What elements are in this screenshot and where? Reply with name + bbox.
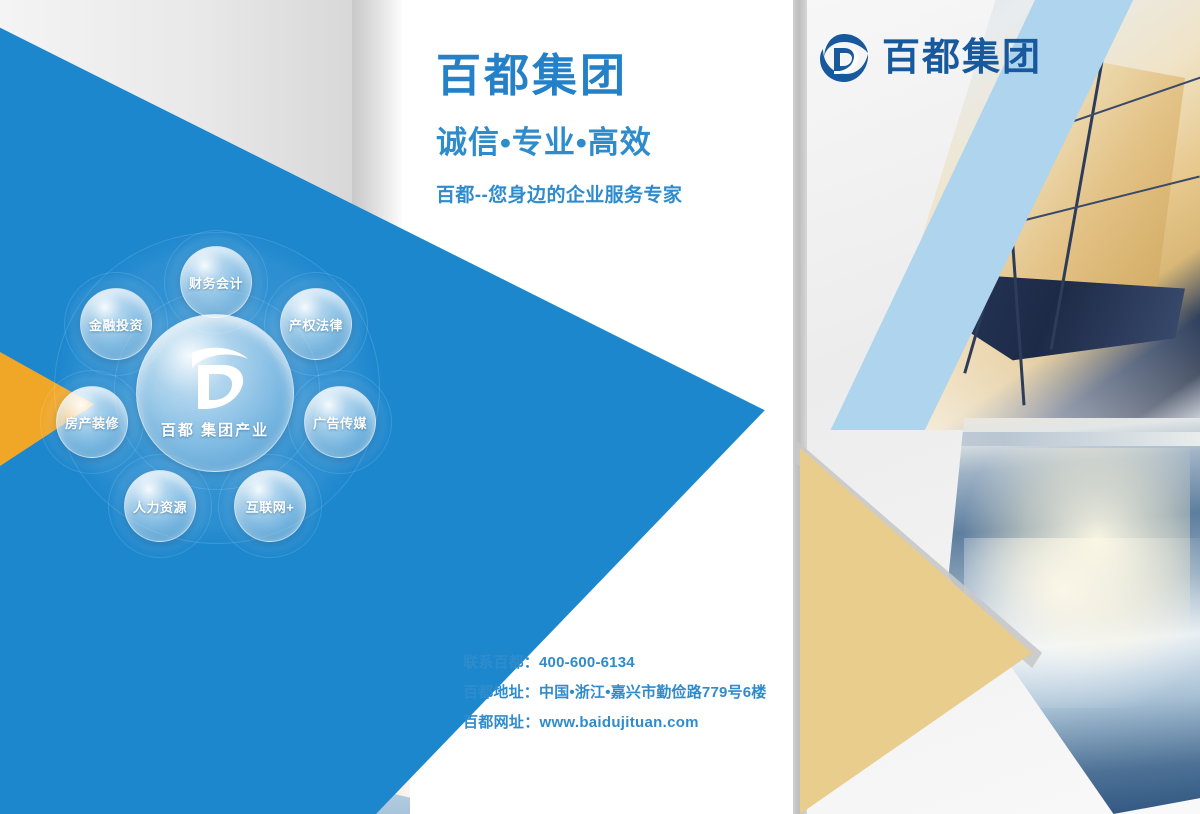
contact-block: 联系百都：400-600-6134 百都地址：中国•浙江•嘉兴市勤俭路779号6… — [463, 648, 766, 738]
industry-bubble-diagram: 财务会计 产权法律 广告传媒 互联网+ 人力资源 房产装修 金融投资 — [36, 222, 396, 552]
bubble-label: 广告传媒 — [313, 413, 367, 432]
bubble-center-label: 百都 集团产业 — [161, 419, 269, 440]
page-title: 百都集团 — [436, 52, 682, 101]
bubble-label: 人力资源 — [133, 497, 187, 516]
bubble-node-human-resources[interactable]: 人力资源 — [124, 470, 196, 542]
baidu-group-d-logo-icon — [818, 32, 870, 84]
hero-subline: 诚信•专业•高效 — [436, 117, 682, 162]
contact-address: 百都地址：中国•浙江•嘉兴市勤俭路779号6楼 — [463, 678, 766, 708]
bubble-label: 房产装修 — [65, 413, 119, 432]
contact-website[interactable]: 百都网址：www.baidujituan.com — [463, 708, 766, 738]
bubble-label: 互联网+ — [246, 497, 295, 516]
brochure-page: 财务会计 产权法律 广告传媒 互联网+ 人力资源 房产装修 金融投资 — [0, 0, 1200, 814]
bubble-node-center[interactable]: 百都 集团产业 — [136, 314, 294, 472]
brand-name: 百都集团 — [882, 39, 1042, 77]
bubble-node-internet-plus[interactable]: 互联网+ — [234, 470, 306, 542]
bubble-node-finance-accounting[interactable]: 财务会计 — [180, 246, 252, 318]
bubble-label: 财务会计 — [189, 273, 243, 292]
bubble-node-property-law[interactable]: 产权法律 — [280, 288, 352, 360]
hero-tagline: 百都--您身边的企业服务专家 — [436, 180, 682, 207]
d-monogram-icon — [178, 347, 252, 413]
bubble-node-financial-investment[interactable]: 金融投资 — [80, 288, 152, 360]
bubble-label: 金融投资 — [89, 315, 143, 334]
bubble-label: 产权法律 — [289, 315, 343, 334]
brand-lockup: 百都集团 — [818, 32, 1042, 84]
contact-phone: 联系百都：400-600-6134 — [463, 648, 766, 678]
bubble-node-advertising-media[interactable]: 广告传媒 — [304, 386, 376, 458]
hero-text-block: 百都集团 诚信•专业•高效 百都--您身边的企业服务专家 — [436, 52, 682, 207]
bubble-node-real-estate-renovation[interactable]: 房产装修 — [56, 386, 128, 458]
